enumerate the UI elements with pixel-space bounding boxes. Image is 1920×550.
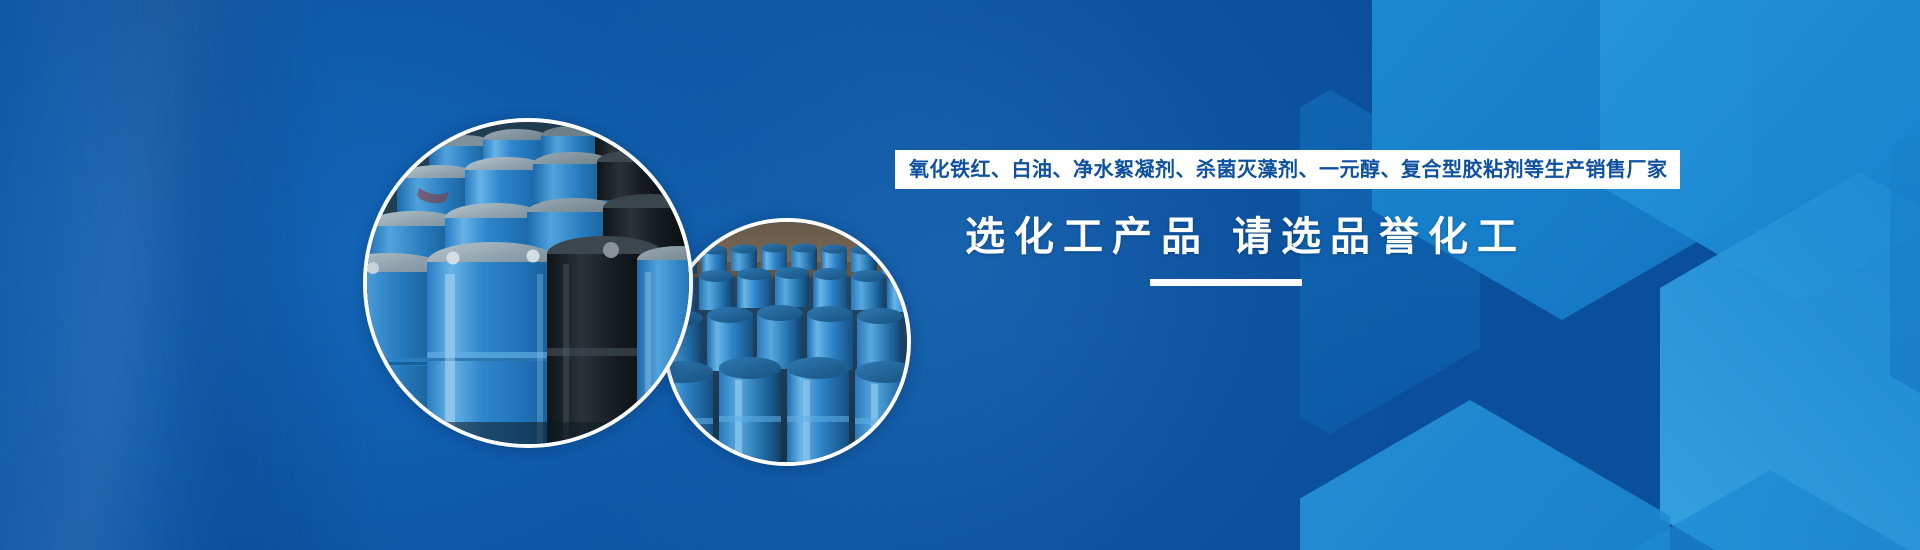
headline: 选化工产品请选品誉化工	[965, 217, 1595, 257]
chemical-company-banner: 氧化铁红、白油、净水絮凝剂、杀菌灭藻剂、一元醇、复合型胶粘剂等生产销售厂家 选化…	[0, 0, 1920, 550]
underline-rule	[1150, 279, 1302, 286]
banner-copy: 氧化铁红、白油、净水絮凝剂、杀菌灭藻剂、一元醇、复合型胶粘剂等生产销售厂家 选化…	[895, 150, 1595, 286]
product-photo-drums-small	[663, 218, 911, 466]
headline-part-1: 选化工产品	[965, 213, 1210, 260]
headline-part-2: 请选品誉化工	[1232, 213, 1526, 260]
blue-steel-drums-illustration	[367, 122, 689, 444]
warehouse-drums-illustration	[667, 222, 907, 462]
product-photo-drums-large	[363, 118, 693, 448]
product-list-subtitle: 氧化铁红、白油、净水絮凝剂、杀菌灭藻剂、一元醇、复合型胶粘剂等生产销售厂家	[895, 150, 1680, 189]
